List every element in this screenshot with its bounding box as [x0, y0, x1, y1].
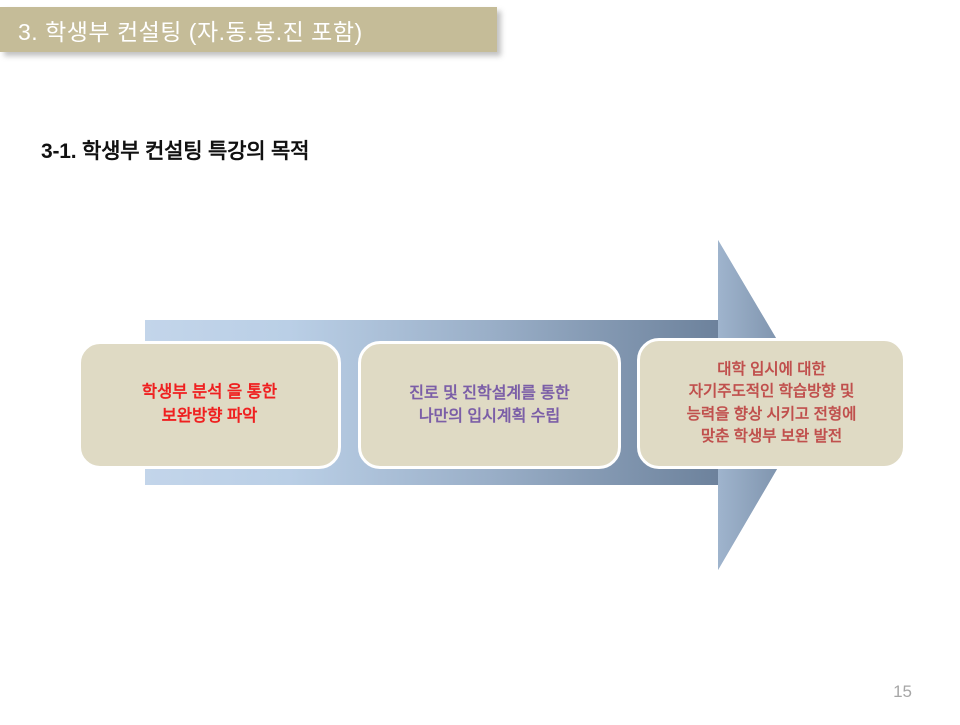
process-box-3-line-4: 맞춘 학생부 보완 발전 [701, 426, 842, 448]
process-box-3-line-2: 자기주도적인 학습방향 및 [689, 381, 854, 403]
process-box-2-line-2: 나만의 입시계획 수립 [419, 405, 560, 428]
process-box-1-line-2: 보완방향 파악 [162, 405, 258, 429]
slide-title-banner: 3. 학생부 컨설팅 (자.동.봉.진 포함) [0, 7, 497, 52]
process-box-3-line-1: 대학 입시에 대한 [717, 359, 825, 381]
process-box-3-line-3: 능력을 향상 시키고 전형에 [687, 404, 857, 426]
process-box-1[interactable]: 학생부 분석 을 통한 보완방향 파악 [78, 341, 341, 469]
slide-title-text: 3. 학생부 컨설팅 (자.동.봉.진 포함) [0, 13, 363, 47]
process-box-2-line-1: 진로 및 진학설계를 통한 [409, 382, 570, 405]
process-box-2[interactable]: 진로 및 진학설계를 통한 나만의 입시계획 수립 [358, 341, 621, 469]
slide-subtitle: 3-1. 학생부 컨설팅 특강의 목적 [41, 135, 309, 165]
page-number: 15 [893, 682, 912, 702]
process-box-1-line-1: 학생부 분석 을 통한 [142, 381, 277, 405]
process-box-3[interactable]: 대학 입시에 대한 자기주도적인 학습방향 및 능력을 향상 시키고 전형에 맞… [637, 338, 906, 469]
